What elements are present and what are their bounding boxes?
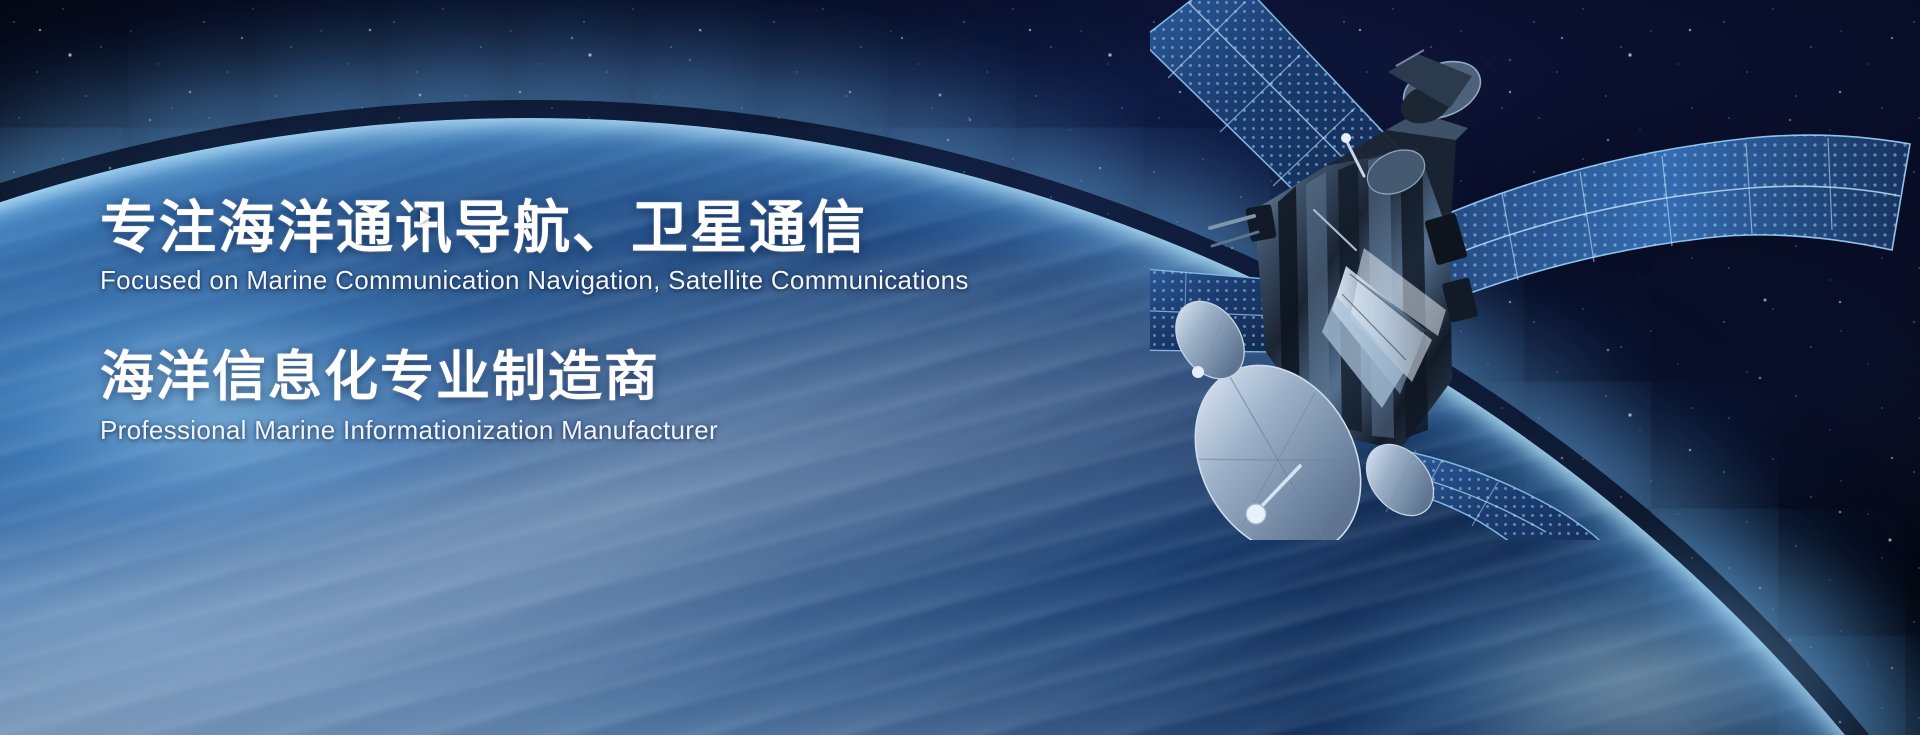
headline-block-secondary: 海洋信息化专业制造商 Professional Marine Informati…	[100, 346, 1200, 448]
headline-secondary-cn: 海洋信息化专业制造商	[100, 346, 1200, 408]
headline-block-primary: 专注海洋通讯导航、卫星通信 Focused on Marine Communic…	[100, 196, 1200, 298]
hero-banner: 专注海洋通讯导航、卫星通信 Focused on Marine Communic…	[0, 0, 1920, 735]
horizon-glow-right	[1180, 470, 1920, 735]
play-cursor-marker[interactable]	[420, 210, 431, 224]
hero-copy: 专注海洋通讯导航、卫星通信 Focused on Marine Communic…	[100, 196, 1200, 448]
headline-secondary-en: Professional Marine Informationization M…	[100, 412, 1200, 448]
headline-primary-cn: 专注海洋通讯导航、卫星通信	[100, 196, 1200, 260]
headline-primary-en: Focused on Marine Communication Navigati…	[100, 262, 1200, 298]
